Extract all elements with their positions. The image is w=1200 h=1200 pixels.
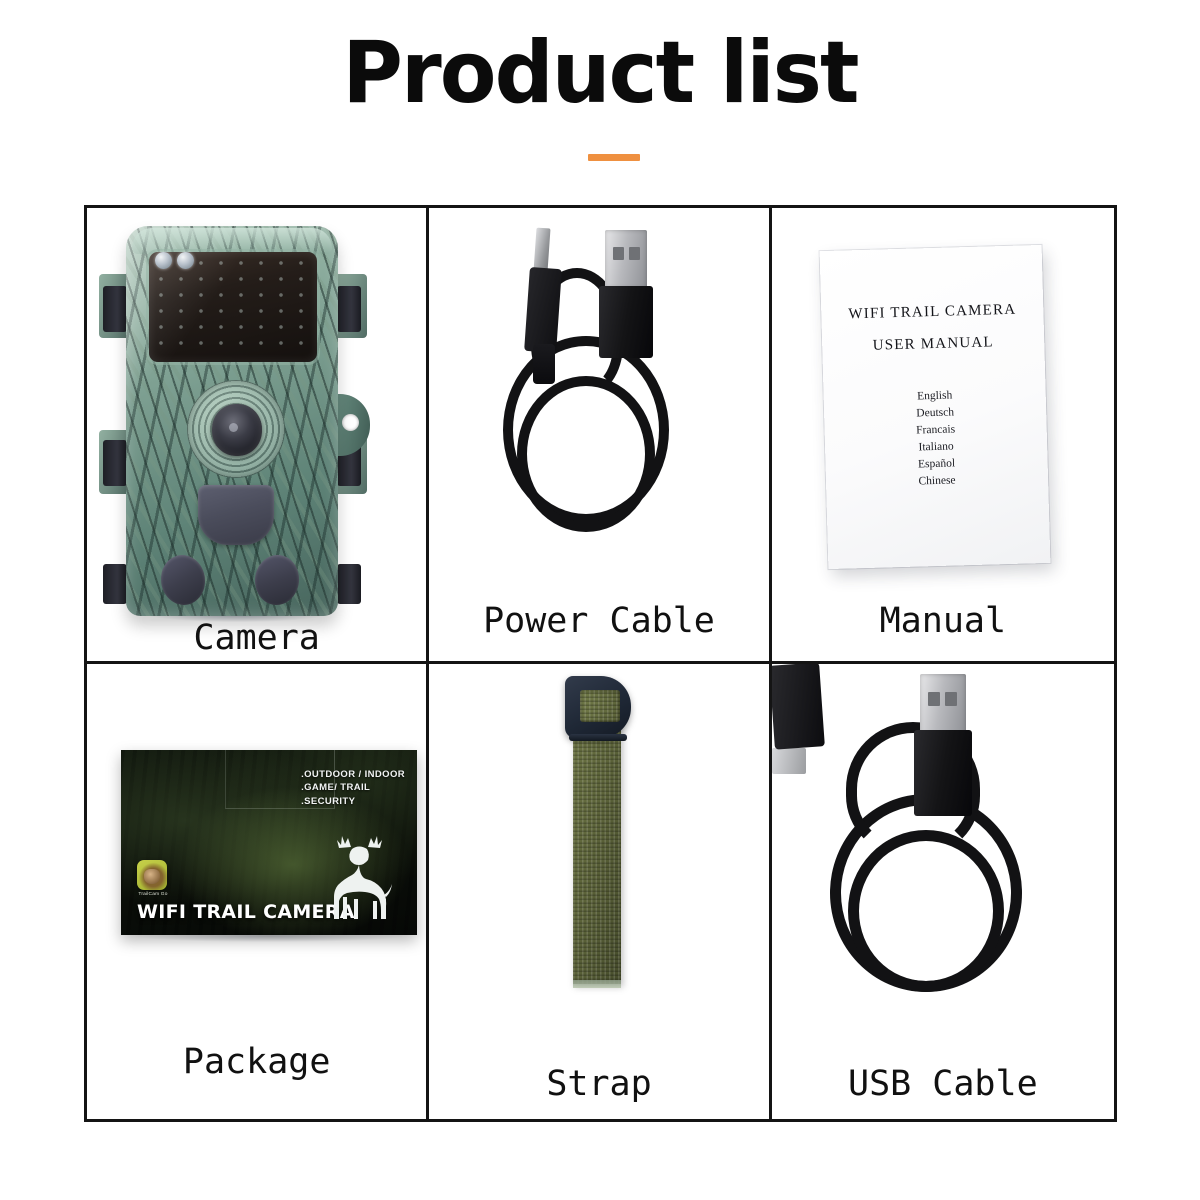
app-icon xyxy=(137,860,167,890)
mounting-strap-image xyxy=(429,664,768,1120)
manual-product-name: WIFI TRAIL CAMERA xyxy=(821,301,1043,324)
product-cell-usb-cable[interactable]: USB Cable xyxy=(772,664,1114,1120)
cell-caption: Camera xyxy=(87,618,426,658)
cell-caption: Power Cable xyxy=(429,601,768,641)
usb-a-connector-shell xyxy=(914,730,972,816)
usb-a-connector-metal xyxy=(605,230,647,288)
usb-a-connector-metal xyxy=(920,674,966,736)
cell-caption: Strap xyxy=(429,1064,768,1104)
camera-latch-left-top xyxy=(103,286,127,332)
camera-top-edge xyxy=(132,228,332,254)
camera-latch-left-middle xyxy=(103,440,127,486)
camera-light-sensor-1 xyxy=(155,252,172,269)
camera-latch-left-bottom xyxy=(103,564,127,604)
dc-barrel-tip xyxy=(534,228,551,273)
title-accent-bar xyxy=(588,154,640,161)
product-cell-strap[interactable]: Strap xyxy=(429,664,771,1120)
usb-cable-image xyxy=(772,664,1114,1120)
camera-light-sensor-2 xyxy=(177,252,194,269)
manual-cover-page: WIFI TRAIL CAMERA USER MANUAL English De… xyxy=(819,245,1050,569)
product-cell-package[interactable]: .OUTDOOR / INDOOR .GAME/ TRAIL .SECURITY… xyxy=(87,664,429,1120)
strap-webbing xyxy=(573,726,621,984)
page-title: Product list xyxy=(24,28,1176,118)
camera-lens xyxy=(212,404,262,456)
product-grid: Camera Power Cable WIFI TRAIL CAMERA USE… xyxy=(84,205,1117,1122)
strap-buckle-bar xyxy=(569,734,627,741)
package-feature-bullets: .OUTDOOR / INDOOR .GAME/ TRAIL .SECURITY xyxy=(301,768,405,809)
user-manual-image: WIFI TRAIL CAMERA USER MANUAL English De… xyxy=(772,208,1114,661)
manual-document-type: USER MANUAL xyxy=(822,333,1044,356)
cell-caption: USB Cable xyxy=(772,1064,1114,1104)
power-cable-image xyxy=(429,208,768,661)
camera-pir-sensor xyxy=(198,485,274,545)
strap-end xyxy=(573,980,621,988)
micro-usb-connector-tip xyxy=(772,748,806,774)
product-cell-camera[interactable]: Camera xyxy=(87,208,429,664)
package-box: .OUTDOOR / INDOOR .GAME/ TRAIL .SECURITY… xyxy=(121,750,417,935)
camera-latch-right-bottom xyxy=(337,564,361,604)
usb-a-connector-shell xyxy=(599,286,653,358)
cell-caption: Package xyxy=(87,1042,426,1082)
trail-camera-image xyxy=(87,208,426,661)
strap-buckle-slot xyxy=(580,690,620,722)
dc-barrel-connector xyxy=(524,267,562,353)
micro-usb-connector-shell xyxy=(772,664,825,750)
product-cell-manual[interactable]: WIFI TRAIL CAMERA USER MANUAL English De… xyxy=(772,208,1114,664)
power-cable-strain-relief xyxy=(533,344,555,384)
app-name-label: TrailCam Go xyxy=(133,892,173,897)
camera-latch-right-top xyxy=(337,286,361,332)
product-cell-power-cable[interactable]: Power Cable xyxy=(429,208,771,664)
camera-ir-led-panel xyxy=(149,252,317,362)
header: Product list xyxy=(0,0,1200,200)
manual-language-list: English Deutsch Francais Italiano Españo… xyxy=(823,385,1048,493)
power-cable-coil-inner xyxy=(517,376,655,532)
cell-caption: Manual xyxy=(772,601,1114,641)
deer-silhouette-icon xyxy=(321,835,395,921)
